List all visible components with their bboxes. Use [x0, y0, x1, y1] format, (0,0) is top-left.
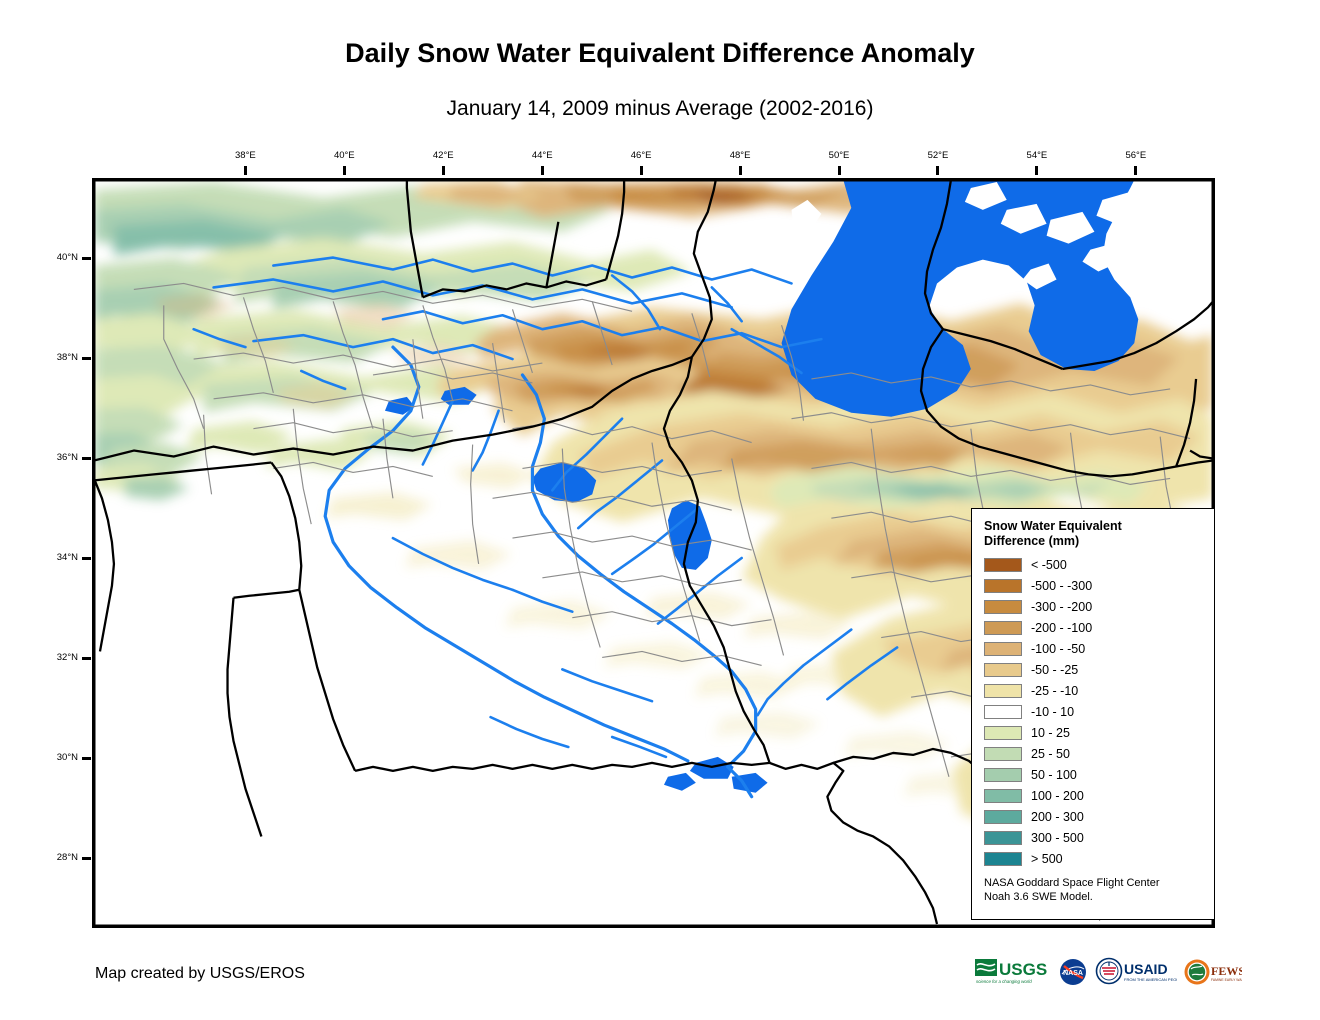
latitude-label: 40°N	[8, 252, 78, 263]
longitude-tick	[640, 166, 643, 175]
latitude-label: 36°N	[8, 452, 78, 463]
longitude-label: 50°E	[809, 150, 869, 161]
legend-label: -200 - -100	[1031, 621, 1092, 635]
longitude-label: 40°E	[314, 150, 374, 161]
legend-swatch	[984, 747, 1022, 761]
legend-row: -200 - -100	[984, 617, 1214, 638]
legend-row: 50 - 100	[984, 764, 1214, 785]
longitude-tick	[244, 166, 247, 175]
legend-swatch	[984, 768, 1022, 782]
legend-title-line1: Snow Water Equivalent	[984, 519, 1122, 533]
legend-label: 25 - 50	[1031, 747, 1070, 761]
legend-footer-line1: NASA Goddard Space Flight Center	[984, 877, 1159, 889]
legend-swatch	[984, 684, 1022, 698]
latitude-tick	[82, 757, 91, 760]
longitude-label: 44°E	[512, 150, 572, 161]
longitude-tick	[739, 166, 742, 175]
longitude-label: 54°E	[1007, 150, 1067, 161]
legend-swatch	[984, 558, 1022, 572]
svg-text:FEWS: FEWS	[1211, 964, 1242, 978]
svg-text:science for a changing world: science for a changing world	[976, 979, 1032, 984]
svg-text:USAID: USAID	[1124, 961, 1168, 977]
latitude-label: 32°N	[8, 652, 78, 663]
longitude-tick	[1035, 166, 1038, 175]
legend-title: Snow Water Equivalent Difference (mm)	[984, 519, 1199, 549]
longitude-tick	[541, 166, 544, 175]
legend-row: 300 - 500	[984, 827, 1214, 848]
legend-swatch	[984, 726, 1022, 740]
legend-row: 25 - 50	[984, 743, 1214, 764]
legend-swatch	[984, 852, 1022, 866]
legend-swatch	[984, 810, 1022, 824]
longitude-label: 46°E	[611, 150, 671, 161]
legend-label: -500 - -300	[1031, 579, 1092, 593]
latitude-tick	[82, 657, 91, 660]
latitude-tick	[82, 257, 91, 260]
legend-label: > 500	[1031, 852, 1063, 866]
longitude-label: 48°E	[710, 150, 770, 161]
legend-entries: < -500-500 - -300-300 - -200-200 - -100-…	[984, 554, 1214, 869]
legend-row: -500 - -300	[984, 575, 1214, 596]
legend-swatch	[984, 600, 1022, 614]
legend-row: < -500	[984, 554, 1214, 575]
latitude-tick	[82, 557, 91, 560]
legend-row: 100 - 200	[984, 785, 1214, 806]
longitude-tick	[1134, 166, 1137, 175]
legend-label: 300 - 500	[1031, 831, 1084, 845]
latitude-label: 28°N	[8, 852, 78, 863]
legend-label: -10 - 10	[1031, 705, 1074, 719]
legend-swatch	[984, 579, 1022, 593]
svg-text:FAMINE EARLY WARNING SYSTEMS N: FAMINE EARLY WARNING SYSTEMS NETWORK	[1211, 978, 1242, 982]
latitude-tick	[82, 357, 91, 360]
page-subtitle: January 14, 2009 minus Average (2002-201…	[0, 97, 1320, 121]
longitude-tick	[343, 166, 346, 175]
legend-label: -300 - -200	[1031, 600, 1092, 614]
latitude-label: 30°N	[8, 752, 78, 763]
legend-footer-line2: Noah 3.6 SWE Model.	[984, 891, 1093, 903]
legend-label: < -500	[1031, 558, 1067, 572]
legend-row: -100 - -50	[984, 638, 1214, 659]
latitude-label: 34°N	[8, 552, 78, 563]
longitude-tick	[936, 166, 939, 175]
usgs-logo: USGS science for a changing world	[975, 957, 1051, 992]
legend-label: -100 - -50	[1031, 642, 1085, 656]
longitude-label: 52°E	[908, 150, 968, 161]
legend-swatch	[984, 621, 1022, 635]
svg-text:USGS: USGS	[999, 960, 1047, 979]
latitude-label: 38°N	[8, 352, 78, 363]
map-legend: Snow Water Equivalent Difference (mm) < …	[971, 508, 1215, 920]
longitude-tick	[442, 166, 445, 175]
legend-label: 100 - 200	[1031, 789, 1084, 803]
longitude-label: 56°E	[1106, 150, 1166, 161]
legend-label: 50 - 100	[1031, 768, 1077, 782]
longitude-tick	[838, 166, 841, 175]
page-title: Daily Snow Water Equivalent Difference A…	[0, 38, 1320, 69]
legend-swatch	[984, 789, 1022, 803]
usaid-logo: USAID FROM THE AMERICAN PEOPLE	[1095, 957, 1177, 992]
legend-title-line2: Difference (mm)	[984, 534, 1079, 548]
latitude-tick	[82, 457, 91, 460]
legend-row: -50 - -25	[984, 659, 1214, 680]
nasa-logo: NASA	[1058, 957, 1088, 992]
legend-row: -10 - 10	[984, 701, 1214, 722]
legend-label: 10 - 25	[1031, 726, 1070, 740]
legend-label: -25 - -10	[1031, 684, 1078, 698]
legend-swatch	[984, 663, 1022, 677]
legend-footer: NASA Goddard Space Flight Center Noah 3.…	[984, 877, 1204, 904]
longitude-label: 42°E	[413, 150, 473, 161]
legend-row: 200 - 300	[984, 806, 1214, 827]
legend-swatch	[984, 642, 1022, 656]
map-credit: Map created by USGS/EROS	[95, 965, 305, 983]
legend-swatch	[984, 831, 1022, 845]
agency-logos: USGS science for a changing world NASA U…	[975, 957, 1207, 991]
legend-row: -300 - -200	[984, 596, 1214, 617]
longitude-label: 38°E	[215, 150, 275, 161]
legend-row: -25 - -10	[984, 680, 1214, 701]
legend-swatch	[984, 705, 1022, 719]
legend-row: > 500	[984, 848, 1214, 869]
svg-text:FROM THE AMERICAN PEOPLE: FROM THE AMERICAN PEOPLE	[1124, 977, 1177, 982]
legend-label: -50 - -25	[1031, 663, 1078, 677]
svg-text:NASA: NASA	[1063, 970, 1083, 977]
fewsnet-logo: FEWS FAMINE EARLY WARNING SYSTEMS NETWOR…	[1184, 957, 1242, 992]
legend-row: 10 - 25	[984, 722, 1214, 743]
legend-label: 200 - 300	[1031, 810, 1084, 824]
latitude-tick	[82, 857, 91, 860]
